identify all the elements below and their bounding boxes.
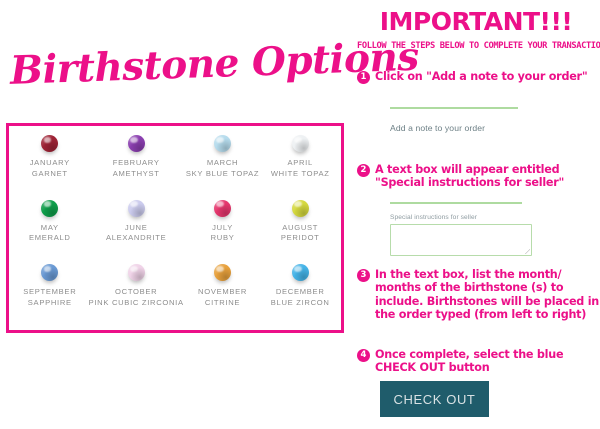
birthstone-name: CITRINE [198, 298, 247, 309]
divider-rule-1 [390, 107, 518, 109]
special-instructions-textarea[interactable] [390, 224, 532, 256]
gem-icon [128, 135, 145, 152]
gem-icon [214, 264, 231, 281]
birthstone-name: GARNET [30, 169, 70, 180]
divider-rule-2 [390, 202, 522, 204]
birthstone-name: RUBY [211, 233, 235, 244]
birthstone-name: PINK CUBIC ZIRCONIA [89, 298, 184, 309]
birthstone-name: WHITE TOPAZ [271, 169, 330, 180]
birthstone-month: FEBRUARY [113, 158, 160, 169]
birthstone-label: JANUARYGARNET [30, 158, 70, 179]
birthstone-month: JUNE [106, 223, 166, 234]
gem-icon [292, 264, 309, 281]
step-3: 3 In the text box, list the month/ month… [357, 268, 600, 322]
step-4-text: Once complete, select the blue CHECK OUT… [375, 348, 600, 375]
gem-icon [41, 264, 58, 281]
birthstone-name: PERIDOT [281, 233, 320, 244]
birthstone-frame: JANUARYGARNETFEBRUARYAMETHYSTMARCHSKY BL… [6, 123, 344, 333]
check-out-button[interactable]: CHECK OUT [380, 381, 489, 417]
step-2-badge: 2 [357, 164, 370, 177]
birthstone-month: NOVEMBER [198, 287, 247, 298]
birthstone-cell: DECEMBERBLUE ZIRCON [261, 261, 339, 326]
birthstone-label: FEBRUARYAMETHYST [113, 158, 160, 179]
birthstone-month: OCTOBER [89, 287, 184, 298]
birthstone-label: MAYEMERALD [29, 223, 71, 244]
step-2-text: A text box will appear entitled "Special… [375, 163, 600, 190]
birthstone-month: AUGUST [281, 223, 320, 234]
step-1: 1 Click on "Add a note to your order" [357, 70, 600, 84]
birthstone-label: AUGUSTPERIDOT [281, 223, 320, 244]
birthstone-name: BLUE ZIRCON [271, 298, 330, 309]
birthstone-cell: AUGUSTPERIDOT [261, 197, 339, 262]
page-title: Birthstone Options [9, 40, 350, 91]
gem-icon [41, 135, 58, 152]
gem-icon [128, 200, 145, 217]
birthstone-label: JULYRUBY [211, 223, 235, 244]
gem-icon [214, 135, 231, 152]
birthstone-month: APRIL [271, 158, 330, 169]
birthstone-label: APRILWHITE TOPAZ [271, 158, 330, 179]
birthstone-cell: NOVEMBERCITRINE [184, 261, 262, 326]
step-3-text: In the text box, list the month/ months … [375, 268, 600, 322]
birthstone-cell: SEPTEMBERSAPPHIRE [11, 261, 89, 326]
birthstone-cell: JULYRUBY [184, 197, 262, 262]
step-1-text: Click on "Add a note to your order" [375, 70, 587, 83]
special-instructions-label: Special instructions for seller [390, 214, 477, 221]
birthstone-label: OCTOBERPINK CUBIC ZIRCONIA [89, 287, 184, 308]
birthstone-cell: APRILWHITE TOPAZ [261, 132, 339, 197]
birthstone-label: DECEMBERBLUE ZIRCON [271, 287, 330, 308]
birthstone-label: NOVEMBERCITRINE [198, 287, 247, 308]
birthstone-name: AMETHYST [113, 169, 160, 180]
birthstone-month: SEPTEMBER [23, 287, 76, 298]
birthstone-cell: OCTOBERPINK CUBIC ZIRCONIA [89, 261, 184, 326]
step-2: 2 A text box will appear entitled "Speci… [357, 163, 600, 190]
birthstone-month: JULY [211, 223, 235, 234]
birthstone-name: SAPPHIRE [23, 298, 76, 309]
birthstone-panel: Birthstone Options JANUARYGARNETFEBRUARY… [0, 0, 352, 429]
birthstone-label: SEPTEMBERSAPPHIRE [23, 287, 76, 308]
step-4: 4 Once complete, select the blue CHECK O… [357, 348, 600, 375]
birthstone-name: SKY BLUE TOPAZ [186, 169, 259, 180]
instructions-subheading: FOLLOW THE STEPS BELOW TO COMPLETE YOUR … [357, 42, 595, 51]
birthstone-cell: MAYEMERALD [11, 197, 89, 262]
birthstone-month: JANUARY [30, 158, 70, 169]
step-4-badge: 4 [357, 349, 370, 362]
step-3-badge: 3 [357, 269, 370, 282]
gem-icon [214, 200, 231, 217]
birthstone-month: DECEMBER [271, 287, 330, 298]
birthstone-cell: MARCHSKY BLUE TOPAZ [184, 132, 262, 197]
birthstone-label: JUNEALEXANDRITE [106, 223, 166, 244]
birthstone-cell: FEBRUARYAMETHYST [89, 132, 184, 197]
instructions-panel: IMPORTANT!!! FOLLOW THE STEPS BELOW TO C… [352, 0, 600, 429]
birthstone-label: MARCHSKY BLUE TOPAZ [186, 158, 259, 179]
gem-icon [292, 200, 309, 217]
birthstone-cell: JANUARYGARNET [11, 132, 89, 197]
gem-icon [128, 264, 145, 281]
birthstone-month: MARCH [186, 158, 259, 169]
birthstone-name: ALEXANDRITE [106, 233, 166, 244]
birthstone-grid: JANUARYGARNETFEBRUARYAMETHYSTMARCHSKY BL… [9, 126, 341, 330]
birthstone-name: EMERALD [29, 233, 71, 244]
important-heading: IMPORTANT!!! [352, 9, 600, 34]
step-1-badge: 1 [357, 71, 370, 84]
birthstone-cell: JUNEALEXANDRITE [89, 197, 184, 262]
birthstone-month: MAY [29, 223, 71, 234]
gem-icon [292, 135, 309, 152]
add-note-link[interactable]: Add a note to your order [390, 123, 485, 133]
gem-icon [41, 200, 58, 217]
